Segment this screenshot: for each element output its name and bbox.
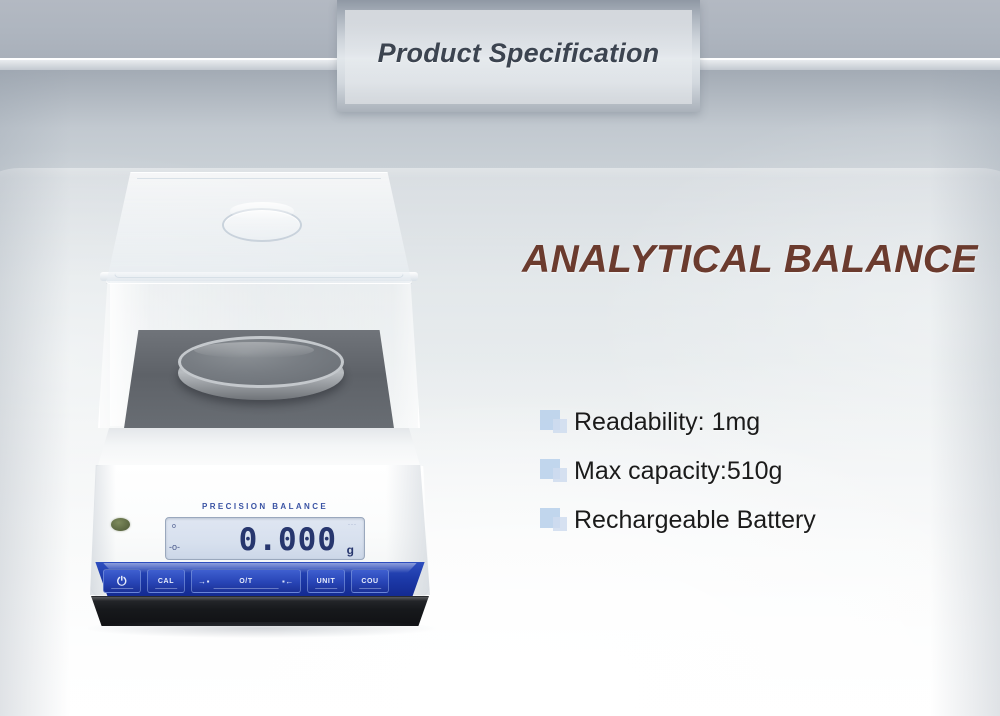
lcd-zero-indicator-icon: o — [172, 523, 176, 530]
spec-text-battery: Rechargeable Battery — [574, 506, 816, 535]
bullet-square-icon — [540, 506, 574, 536]
power-icon: ⏻ — [117, 575, 127, 587]
cal-button-label: CAL — [158, 578, 174, 585]
zero-tare-button-label: O/T — [239, 578, 252, 585]
spec-text-max-capacity: Max capacity:510g — [574, 457, 782, 486]
background-vignette-right — [930, 63, 1000, 716]
zero-tare-button[interactable]: →▪ O/T ▪← — [191, 569, 301, 593]
cal-button[interactable]: CAL — [147, 569, 185, 593]
header-banner: Product Specification — [337, 0, 700, 112]
spec-text-readability: Readability: 1mg — [574, 408, 760, 437]
key-underline — [315, 588, 337, 589]
power-button[interactable]: ⏻ — [103, 569, 141, 593]
arrow-left-icon: ▪← — [282, 577, 294, 586]
brand-label: PRECISION BALANCE — [202, 502, 328, 511]
count-button[interactable]: COU — [351, 569, 389, 593]
lcd-stable-indicator-icon: -o- — [169, 542, 180, 552]
lcd-battery-indicator-icon: ··· — [348, 522, 357, 528]
bullet-square-icon — [540, 457, 574, 487]
specification-list: Readability: 1mg Max capacity:510g Recha… — [540, 398, 960, 545]
unit-button[interactable]: UNIT — [307, 569, 345, 593]
product-specification-banner-image: Product Specification PRECISION BALANCE … — [0, 0, 1000, 716]
arrow-right-icon: →▪ — [198, 577, 210, 586]
background-vignette-left — [0, 63, 70, 716]
lcd-weight-value: 0.000 — [239, 523, 337, 557]
spec-item-max-capacity: Max capacity:510g — [540, 447, 960, 496]
banner-tab-right — [700, 60, 1000, 70]
unit-button-label: UNIT — [317, 578, 336, 585]
power-led-indicator — [111, 518, 130, 531]
bullet-square-icon — [540, 408, 574, 438]
spec-item-battery: Rechargeable Battery — [540, 496, 960, 545]
key-underline — [111, 588, 133, 589]
product-title: ANALYTICAL BALANCE — [522, 238, 978, 282]
weighing-pan-highlight — [194, 342, 314, 358]
lcd-weight-unit: g — [347, 543, 354, 557]
draft-shield-handle-highlight — [230, 202, 294, 220]
balance-floor-shadow — [88, 622, 436, 638]
lcd-display: o -o- ··· 0.000 g — [165, 517, 365, 560]
key-underline — [214, 588, 279, 589]
count-button-label: COU — [361, 578, 378, 585]
spec-item-readability: Readability: 1mg — [540, 398, 960, 447]
key-underline — [359, 588, 381, 589]
analytical-balance-photo: PRECISION BALANCE o -o- ··· 0.000 g ⏻ CA… — [70, 160, 470, 660]
banner-tab-left — [0, 60, 345, 70]
balance-base-highlight — [92, 597, 428, 601]
page-title: Product Specification — [378, 38, 660, 69]
key-underline — [155, 588, 177, 589]
